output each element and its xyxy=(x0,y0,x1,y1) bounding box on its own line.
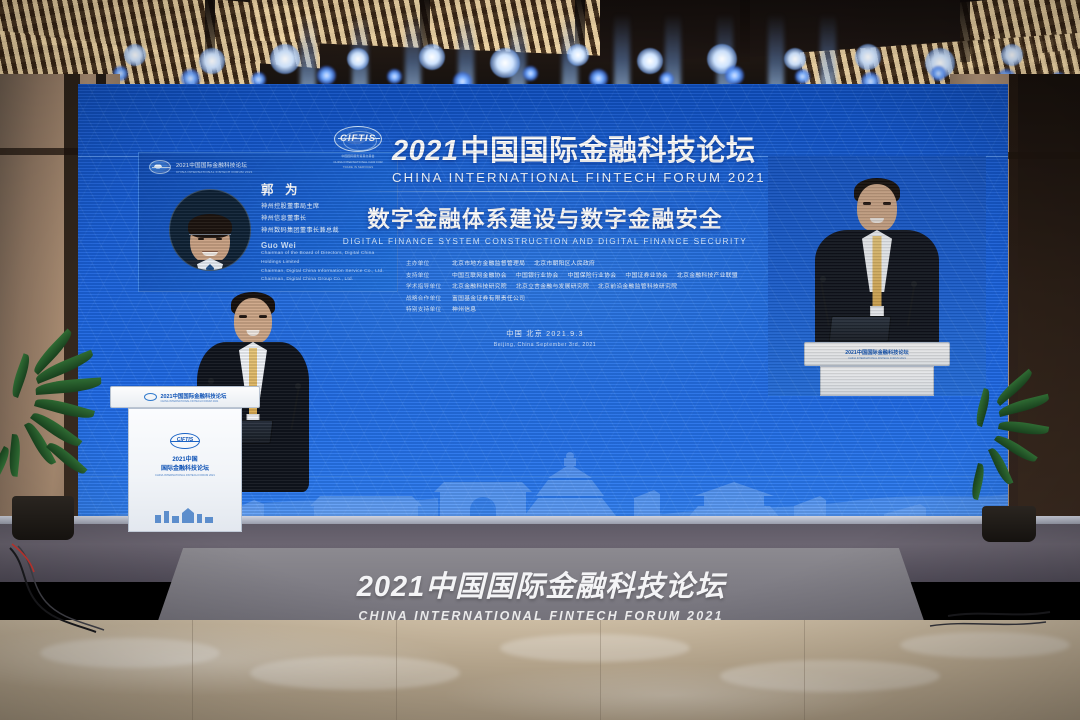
organizer-row: 战略合作单位富国基金证券有限责任公司 xyxy=(406,293,760,302)
presenter-head xyxy=(857,184,897,232)
floor-cables xyxy=(0,520,1080,660)
ciftis-wordmark: CIFTIS xyxy=(335,133,381,144)
moving-head-light xyxy=(567,44,589,66)
organizer-name: 北京市朝阳区人民政府 xyxy=(534,261,595,267)
organizer-name: 北京前沿金融监管科技研究院 xyxy=(598,284,677,290)
organizer-row: 主办单位北京市地方金融监督管理局北京市朝阳区人民政府 xyxy=(406,258,760,267)
microphone-stem-2 xyxy=(907,286,915,326)
organizer-values: 中国互联网金融协会中国银行业协会中国保险行业协会中国证券业协会北京金融科技产业联… xyxy=(452,270,747,279)
feed-lectern-panel: 2021中国国际金融科技论坛 CHINA INTERNATIONAL FINTE… xyxy=(804,342,950,366)
organizer-name: 神州信息 xyxy=(452,307,476,313)
forum-title-en: CHINA INTERNATIONAL FINTECH FORUM 2021 xyxy=(330,170,760,185)
title-main-row: CIFTIS 中国国际服务贸易交易会 CHINA INTERNATIONAL F… xyxy=(330,126,760,169)
organizer-values: 神州信息 xyxy=(452,304,485,313)
organizer-name: 富国基金证券有限责任公司 xyxy=(452,296,525,302)
portrait-smile xyxy=(202,251,218,256)
portrait-head xyxy=(190,218,230,264)
event-date-en: Beijing, China September 3rd, 2021 xyxy=(330,342,760,348)
presenter-mouth xyxy=(870,218,884,223)
portrait-glasses xyxy=(189,234,231,245)
moving-head-light xyxy=(855,44,881,70)
blue-wash-light xyxy=(931,66,946,81)
ciftis-logo: CIFTIS 中国国际服务贸易交易会 CHINA INTERNATIONAL F… xyxy=(330,126,386,169)
podium-front-panel: CIFTIS 2021中国 国际金融科技论坛 CHINA INTERNATION… xyxy=(128,408,242,532)
conference-stage-photo: 2021中国国际金融科技论坛 CHINA INTERNATIONAL FINTE… xyxy=(0,0,1080,720)
speaker-eyes xyxy=(234,315,272,318)
feed-lectern-text-en: CHINA INTERNATIONAL FINTECH FORUM 2021 xyxy=(848,357,906,360)
event-date-cn: 中国 北京 2021.9.3 xyxy=(330,329,760,339)
podium-front-cn-2: 国际金融科技论坛 xyxy=(161,463,209,472)
organizer-name: 中国保险行业协会 xyxy=(568,273,617,279)
stage-microphone-head-2 xyxy=(295,383,301,389)
moving-head-light xyxy=(784,48,806,70)
ciftis-globe-icon xyxy=(149,160,171,174)
organizer-name: 中国银行业协会 xyxy=(516,273,559,279)
moving-head-light xyxy=(1001,44,1023,66)
podium-front-wordmark: CIFTIS xyxy=(171,438,199,443)
forum-title-cn: 2021中国国际金融科技论坛 xyxy=(392,127,756,169)
card-brand-cn: 2021中国国际金融科技论坛 xyxy=(176,161,253,169)
ceiling-rib xyxy=(960,0,970,62)
organizer-label: 主办单位 xyxy=(406,259,452,267)
presenter-eyes xyxy=(857,202,897,205)
organizer-label: 战略合作单位 xyxy=(406,294,452,302)
organizer-name: 中国证券业协会 xyxy=(625,273,668,279)
ciftis-sub-en: CHINA INTERNATIONAL FAIR FOR TRADE IN SE… xyxy=(330,160,386,169)
portrait-eye xyxy=(216,238,222,240)
card-brand-en: CHINA INTERNATIONAL FINTECH FORUM 2021 xyxy=(176,170,253,174)
moving-head-light xyxy=(419,44,445,70)
ciftis-globe-icon: CIFTIS xyxy=(334,126,382,152)
moving-head-light xyxy=(490,48,520,78)
presenter-badge xyxy=(870,306,884,324)
podium-front-globe-icon: CIFTIS xyxy=(170,433,200,449)
organizer-name: 北京市地方金融监督管理局 xyxy=(452,261,525,267)
podium-front-cn-1: 2021中国 xyxy=(172,454,197,463)
microphone-head xyxy=(820,276,826,282)
feed-mesh-pattern xyxy=(768,156,986,396)
ceiling-rib xyxy=(740,0,750,62)
organizer-label: 特别支持单位 xyxy=(406,305,452,313)
organizer-label: 学术指导单位 xyxy=(406,282,452,290)
ceiling xyxy=(0,0,1080,96)
organizer-list: 主办单位北京市地方金融监督管理局北京市朝阳区人民政府支持单位中国互联网金融协会中… xyxy=(330,258,760,313)
speaker-portrait-avatar xyxy=(169,189,251,271)
moving-head-light xyxy=(270,44,300,74)
organizer-name: 北京金融科技研究院 xyxy=(452,284,507,290)
blue-wash-light xyxy=(317,66,336,85)
podium-front-en: CHINA INTERNATIONAL FINTECH FORUM 2021 xyxy=(155,474,215,477)
organizer-row: 学术指导单位北京金融科技研究院北京立言金融与发展研究院北京前沿金融监管科技研究院 xyxy=(406,281,760,290)
live-camera-feed: 2021中国国际金融科技论坛 CHINA INTERNATIONAL FINTE… xyxy=(768,156,986,396)
portrait-face xyxy=(190,218,230,264)
moving-head-light xyxy=(637,48,663,74)
stage-microphone-head xyxy=(208,378,214,384)
moving-head-light xyxy=(347,48,369,70)
presenter-hair xyxy=(854,178,900,204)
presenter-lanyard xyxy=(873,236,882,310)
feed-lectern-text-cn: 2021中国国际金融科技论坛 xyxy=(845,349,908,356)
organizer-name: 北京立言金融与发展研究院 xyxy=(516,284,589,290)
card-brand-lockup: 2021中国国际金融科技论坛 CHINA INTERNATIONAL FINTE… xyxy=(149,160,253,174)
microphone-stem xyxy=(820,282,830,326)
moving-head-light xyxy=(199,48,225,74)
podium-plate-en: CHINA INTERNATIONAL FINTECH FORUM 2021 xyxy=(161,400,219,403)
organizer-row: 支持单位中国互联网金融协会中国银行业协会中国保险行业协会中国证券业协会北京金融科… xyxy=(406,270,760,279)
microphone-head-2 xyxy=(911,281,917,287)
feed-lectern: 2021中国国际金融科技论坛 CHINA INTERNATIONAL FINTE… xyxy=(768,156,986,396)
organizer-values: 北京金融科技研究院北京立言金融与发展研究院北京前沿金融监管科技研究院 xyxy=(452,281,686,290)
feed-lectern-body xyxy=(820,366,934,396)
moving-head-light xyxy=(124,44,146,66)
forum-title-cn-text: 中国国际金融科技论坛 xyxy=(461,135,756,167)
laptop-screen xyxy=(829,316,892,342)
feed-presenter xyxy=(768,156,986,396)
organizer-values: 富国基金证券有限责任公司 xyxy=(452,293,534,302)
organizer-values: 北京市地方金融监督管理局北京市朝阳区人民政府 xyxy=(452,258,604,267)
forum-subtitle-cn: 数字金融体系建设与数字金融安全 xyxy=(330,202,760,234)
organizer-name: 北京金融科技产业联盟 xyxy=(677,273,738,279)
blue-wash-light xyxy=(387,69,402,84)
blue-wash-light xyxy=(725,66,744,85)
blue-wash-light xyxy=(523,66,538,81)
forum-title-year: 2021 xyxy=(392,135,459,167)
presenter-suit xyxy=(815,230,939,348)
podium-name-plate: 2021中国国际金融科技论坛 CHINA INTERNATIONAL FINTE… xyxy=(110,386,260,408)
presenter-shirt xyxy=(862,230,892,292)
ciftis-sub-cn: 中国国际服务贸易交易会 xyxy=(330,154,386,158)
forum-subtitle-en: DIGITAL FINANCE SYSTEM CONSTRUCTION AND … xyxy=(330,236,760,246)
title-divider xyxy=(330,191,760,192)
blue-wash-light xyxy=(795,69,810,84)
decorative-plant-left xyxy=(0,348,104,548)
organizer-row: 特别支持单位神州信息 xyxy=(406,304,760,313)
organizer-name: 中国互联网金融协会 xyxy=(452,273,507,279)
podium-ciftis-icon xyxy=(144,393,157,401)
event-date-block: 中国 北京 2021.9.3 Beijing, China September … xyxy=(330,329,760,348)
portrait-eye xyxy=(198,238,204,240)
speaker-head xyxy=(234,298,272,344)
podium-plate-cn: 2021中国国际金融科技论坛 xyxy=(161,392,227,400)
organizer-label: 支持单位 xyxy=(406,271,452,279)
forum-title-block: CIFTIS 中国国际服务贸易交易会 CHINA INTERNATIONAL F… xyxy=(330,126,760,348)
stage-podium: 2021中国国际金融科技论坛 CHINA INTERNATIONAL FINTE… xyxy=(110,386,260,532)
